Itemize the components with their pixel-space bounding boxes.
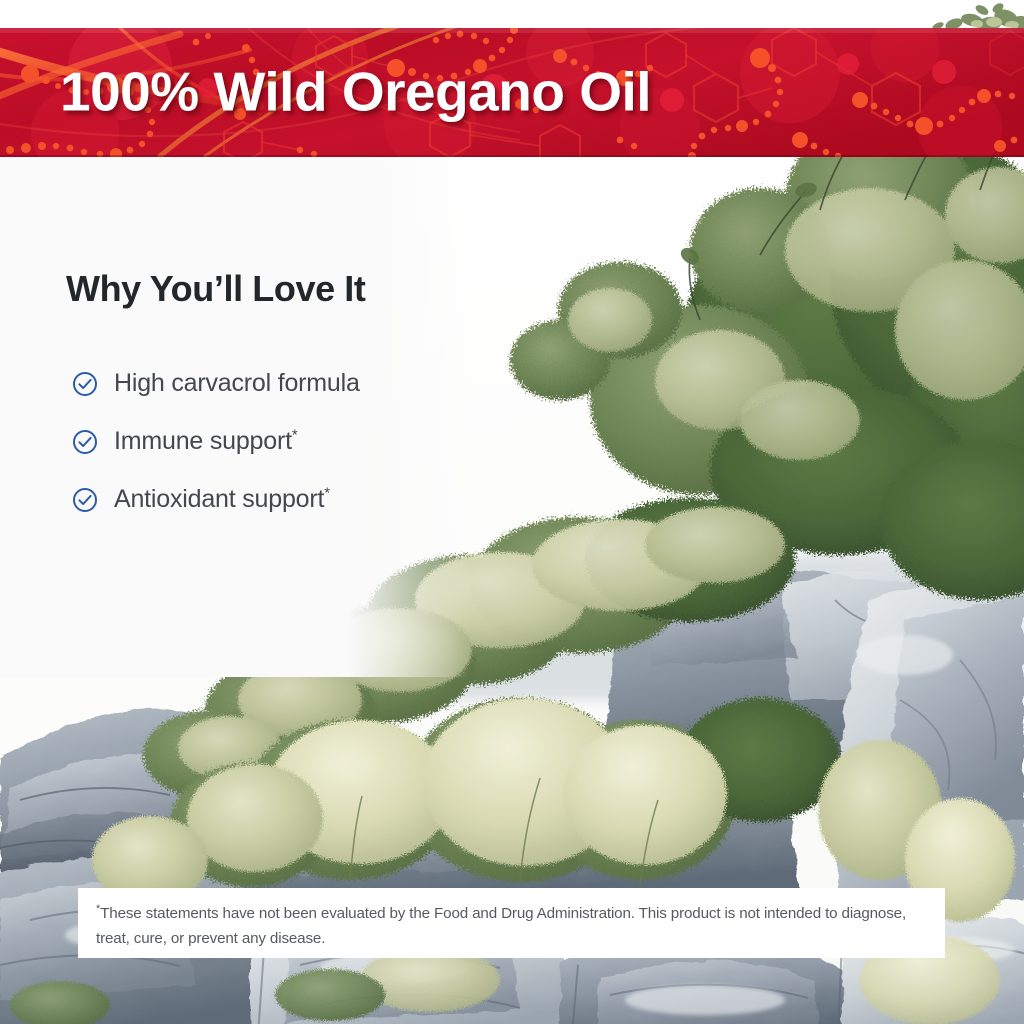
product-title-banner: 100% Wild Oregano Oil (0, 28, 1024, 157)
top-strip-foliage (894, 0, 1024, 28)
benefit-label: High carvacrol formula (114, 369, 360, 398)
fda-disclaimer-box: *These statements have not been evaluate… (78, 888, 945, 958)
top-white-strip (0, 0, 1024, 28)
page-title: 100% Wild Oregano Oil (60, 59, 651, 123)
check-circle-icon (72, 487, 98, 513)
list-item: Immune support* (72, 427, 500, 457)
benefits-list: High carvacrol formula Immune support* (0, 309, 500, 515)
section-heading: Why You’ll Love It (0, 157, 500, 309)
list-item: Antioxidant support* (72, 485, 500, 515)
banner-bottom-edge (0, 155, 1024, 157)
check-circle-icon (72, 371, 98, 397)
benefits-panel: Why You’ll Love It High carvacrol formul… (0, 157, 500, 543)
footnote-marker: * (292, 427, 298, 444)
check-circle-icon (72, 429, 98, 455)
list-item: High carvacrol formula (72, 369, 500, 399)
disclaimer-text: *These statements have not been evaluate… (96, 902, 927, 951)
product-infographic-page: 100% Wild Oregano Oil Why You’ll Love It… (0, 0, 1024, 1024)
benefit-label: Antioxidant support* (114, 485, 330, 514)
benefit-label: Immune support* (114, 427, 297, 456)
footnote-marker: * (324, 485, 330, 502)
